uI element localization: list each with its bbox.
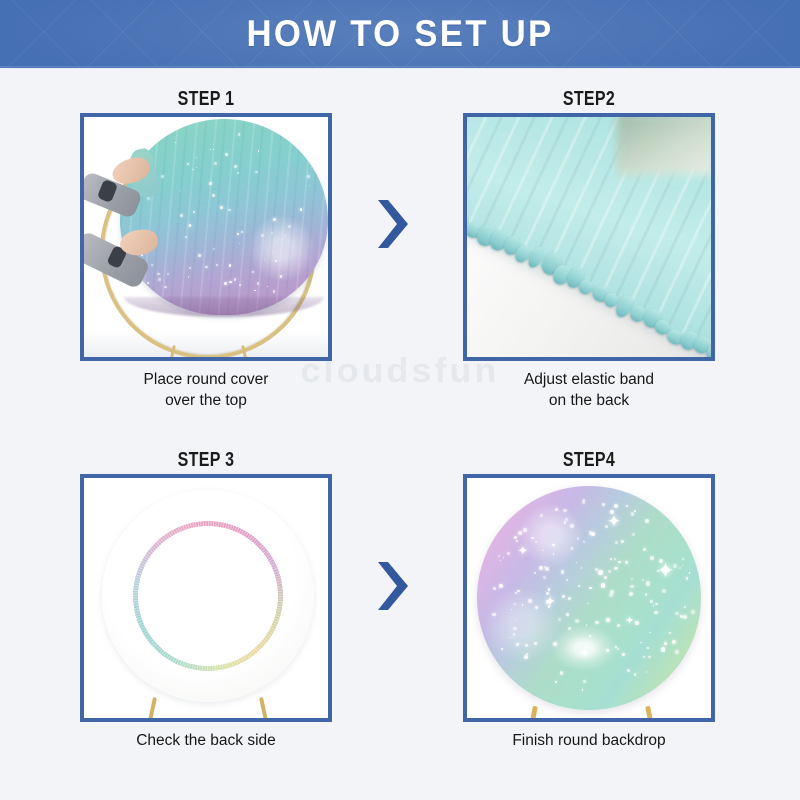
step-image-3 (80, 474, 332, 722)
step-caption-3: Check the back side (62, 730, 350, 751)
panel4-stand-leg-left (529, 706, 538, 722)
sparkle-icon: ✦ (656, 560, 674, 582)
step-caption-2: Adjust elastic band on the back (445, 369, 733, 411)
panel3-photo (84, 478, 328, 718)
panel1-gradient-cover (120, 119, 328, 315)
step-title-1: STEP 1 (105, 88, 307, 111)
step-title-4: STEP4 (488, 449, 690, 472)
panel4-stand-leg-right (645, 706, 654, 722)
panel3-stand-leg-right (259, 697, 269, 722)
step-image-1 (80, 113, 332, 361)
sparkle-icon: ✦ (580, 647, 590, 659)
panel2-photo (467, 117, 711, 357)
header-banner: HOW TO SET UP (0, 0, 800, 68)
chevron-right-icon (372, 198, 412, 250)
header-divider (0, 66, 800, 69)
sparkle-icon: ✦ (625, 616, 634, 627)
step-image-2 (463, 113, 715, 361)
panel3-stand-leg-left (147, 697, 157, 722)
page-title: HOW TO SET UP (24, 0, 776, 68)
panel1-star-print (120, 119, 328, 315)
panel2-background-blur (617, 117, 711, 175)
chevron-right-icon (372, 560, 412, 612)
step-title-3: STEP 3 (105, 449, 307, 472)
panel3-rim-stitching (102, 490, 314, 702)
step-image-4: ✦✦✦✦✦✦ (463, 474, 715, 722)
panel3-backdrop-back (102, 490, 314, 702)
sparkle-icon: ✦ (517, 544, 528, 557)
panel4-photo: ✦✦✦✦✦✦ (467, 478, 711, 718)
step-title-2: STEP2 (488, 88, 690, 111)
panel4-finished-backdrop: ✦✦✦✦✦✦ (477, 486, 701, 710)
step-caption-4: Finish round backdrop (445, 730, 733, 751)
sparkle-icon: ✦ (544, 594, 556, 608)
sparkle-icon: ✦ (607, 513, 621, 530)
step-caption-1: Place round cover over the top (62, 369, 350, 411)
